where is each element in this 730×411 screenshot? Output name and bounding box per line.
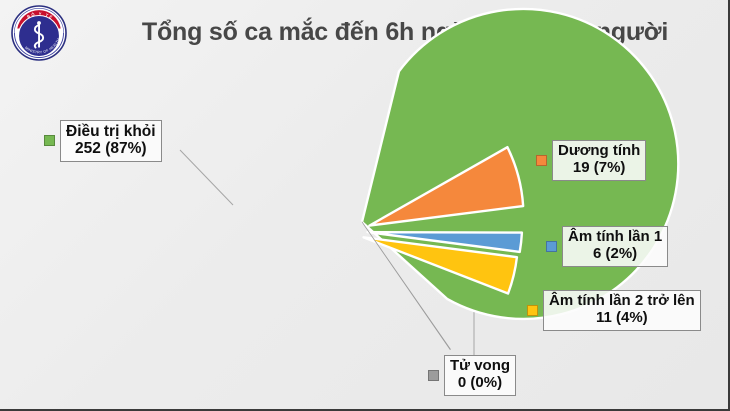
label-value: 0 (0%) — [450, 375, 510, 392]
label-box-dieu-tri-khoi: Điều trị khỏi 252 (87%) — [60, 120, 162, 162]
leader-line-green — [180, 150, 233, 205]
label-value: 11 (4%) — [549, 310, 695, 327]
label-box-am-tinh-lan-2: Âm tính lần 2 trở lên 11 (4%) — [543, 290, 701, 331]
slide-canvas: MINISTRY OF HEALTH BỘ Y TẾ Tổng số ca mắ… — [0, 0, 730, 411]
data-label-tu-vong[interactable]: Tử vong 0 (0%) — [428, 355, 516, 396]
label-box-am-tinh-lan-1: Âm tính lần 1 6 (2%) — [562, 226, 668, 267]
swatch-yellow — [527, 305, 538, 316]
pie-chart — [0, 0, 730, 411]
label-category: Âm tính lần 1 — [568, 229, 662, 246]
data-label-duong-tinh[interactable]: Dương tính 19 (7%) — [536, 140, 646, 181]
swatch-blue — [546, 241, 557, 252]
swatch-gray — [428, 370, 439, 381]
label-category: Điều trị khỏi — [66, 123, 156, 140]
data-label-am-tinh-lan-2[interactable]: Âm tính lần 2 trở lên 11 (4%) — [527, 290, 701, 331]
label-category: Tử vong — [450, 358, 510, 375]
label-value: 252 (87%) — [66, 140, 156, 157]
label-box-duong-tinh: Dương tính 19 (7%) — [552, 140, 646, 181]
swatch-green — [44, 135, 55, 146]
data-label-dieu-tri-khoi[interactable]: Điều trị khỏi 252 (87%) — [44, 120, 162, 162]
label-value: 6 (2%) — [568, 246, 662, 263]
data-label-am-tinh-lan-1[interactable]: Âm tính lần 1 6 (2%) — [546, 226, 668, 267]
swatch-orange — [536, 155, 547, 166]
label-category: Dương tính — [558, 143, 640, 160]
label-value: 19 (7%) — [558, 160, 640, 177]
label-category: Âm tính lần 2 trở lên — [549, 293, 695, 310]
label-box-tu-vong: Tử vong 0 (0%) — [444, 355, 516, 396]
